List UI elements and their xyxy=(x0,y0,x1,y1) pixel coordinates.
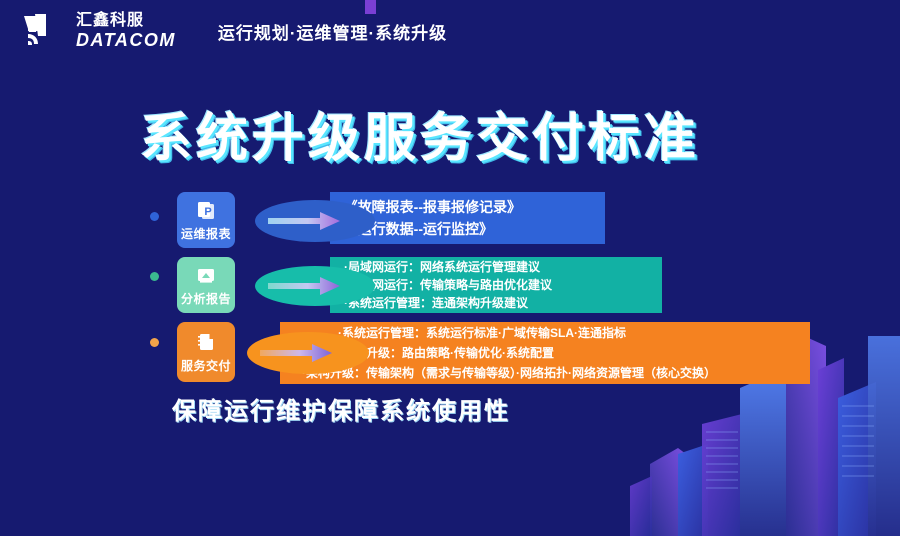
row-2-bullet-dot xyxy=(150,272,159,281)
row-2-content-panel: ·局域网运行：网络系统运行管理建议 ·广域网运行：传输策略与路由优化建议 ·系统… xyxy=(330,257,662,313)
row-1-arrow-icon xyxy=(268,212,340,230)
row-3-bullet-dot xyxy=(150,338,159,347)
row-3-badge-label: 服务交付 xyxy=(181,357,231,374)
row-2-line: ·系统运行管理：连通架构升级建议 xyxy=(330,294,662,312)
report-document-icon: P xyxy=(195,199,217,221)
row-2-badge-label: 分析报告 xyxy=(181,290,231,307)
slide-header: 汇鑫科服 DATACOM 运行规划·运维管理·系统升级 xyxy=(0,0,900,62)
datacom-h-wifi-logo-icon xyxy=(22,12,70,50)
brand-logo: 汇鑫科服 DATACOM xyxy=(22,12,176,50)
row-1-bullet-dot xyxy=(150,212,159,221)
row-3-arrow-icon xyxy=(260,344,332,362)
row-1-badge-label: 运维报表 xyxy=(181,225,231,242)
analysis-chart-icon xyxy=(195,264,217,286)
row-3-line: ·系统运行管理：系统运行标准·广域传输SLA·连通指标 xyxy=(280,323,810,343)
svg-text:P: P xyxy=(204,206,211,218)
header-tagline: 运行规划·运维管理·系统升级 xyxy=(218,19,447,44)
row-1-badge[interactable]: P 运维报表 xyxy=(177,192,235,248)
delivery-notebook-icon xyxy=(195,331,217,353)
row-2-badge[interactable]: 分析报告 xyxy=(177,257,235,313)
row-2-arrow-icon xyxy=(268,277,340,295)
page-title: 系统升级服务交付标准 xyxy=(140,96,700,171)
row-3-line: ·架构升级：传输架构（需求与传输等级）·网络拓扑·网络资源管理（核心交换） xyxy=(280,363,810,383)
row-2-line: ·局域网运行：网络系统运行管理建议 xyxy=(330,258,662,276)
logo-english-name: DATACOM xyxy=(76,31,176,49)
logo-chinese-name: 汇鑫科服 xyxy=(76,13,176,29)
row-3-badge[interactable]: 服务交付 xyxy=(177,322,235,382)
row-2-line: ·广域网运行：传输策略与路由优化建议 xyxy=(330,276,662,294)
bottom-slogan: 保障运行维护保障系统使用性 xyxy=(172,391,510,426)
slide-canvas: 汇鑫科服 DATACOM 运行规划·运维管理·系统升级 系统升级服务交付标准 ·… xyxy=(0,0,900,536)
